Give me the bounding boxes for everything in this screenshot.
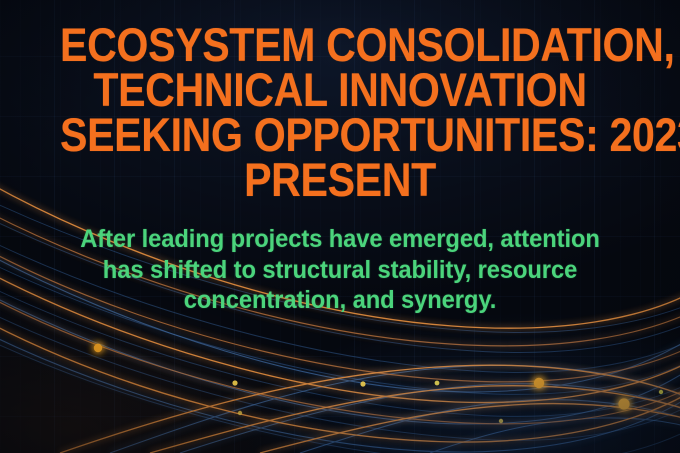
subheadline-line-2: has shifted to structural stability, res… [103,256,577,284]
slide-content: ECOSYSTEM CONSOLIDATION, TECHNICAL INNOV… [0,0,680,453]
subheadline-line-1: After leading projects have emerged, att… [80,225,600,253]
headline-line-4: PRESENT [244,153,436,206]
slide-subheadline: After leading projects have emerged, att… [55,202,625,316]
presentation-slide: ECOSYSTEM CONSOLIDATION, TECHNICAL INNOV… [0,0,680,453]
slide-headline: ECOSYSTEM CONSOLIDATION, TECHNICAL INNOV… [60,22,620,202]
subheadline-line-3: concentration, and synergy. [184,286,496,314]
